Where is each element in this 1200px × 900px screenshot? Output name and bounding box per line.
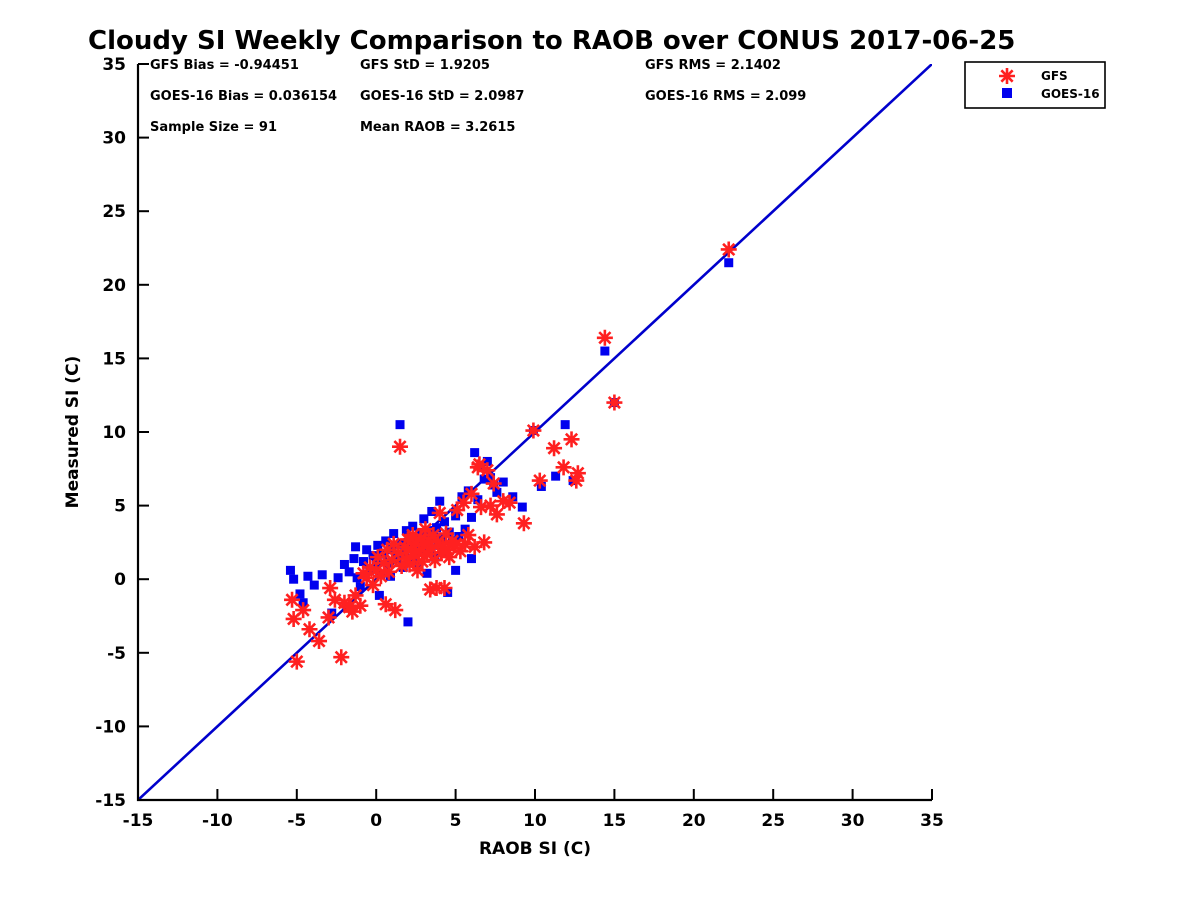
data-point-gfs: [436, 580, 452, 596]
data-point-goes16: [435, 497, 444, 506]
stat-gfs-rms: GFS RMS = 2.1402: [645, 58, 781, 73]
y-tick-label: 35: [102, 55, 126, 75]
data-point-gfs: [378, 596, 394, 612]
stat-goes16-std: GOES-16 StD = 2.0987: [360, 89, 524, 104]
y-axis-title: Measured SI (C): [63, 356, 83, 509]
data-point-goes16: [561, 420, 570, 429]
data-point-gfs: [606, 395, 622, 411]
x-tick-label: 15: [603, 811, 627, 831]
data-point-gfs: [556, 459, 572, 475]
data-point-goes16: [351, 542, 360, 551]
y-tick-label: 10: [102, 423, 126, 443]
y-tick-label: 5: [114, 497, 126, 517]
data-point-gfs: [352, 598, 368, 614]
stat-mean-raob: Mean RAOB = 3.2615: [360, 120, 515, 135]
stat-goes16-rms: GOES-16 RMS = 2.099: [645, 89, 806, 104]
data-point-goes16: [724, 258, 733, 267]
data-point-goes16: [600, 347, 609, 356]
stat-gfs-bias: GFS Bias = -0.94451: [150, 58, 299, 73]
legend-marker-gfs: [999, 68, 1015, 84]
stat-sample-size: Sample Size = 91: [150, 120, 277, 135]
series-goes16-points: [286, 258, 733, 626]
data-point-gfs: [476, 534, 492, 550]
data-point-goes16: [467, 554, 476, 563]
x-tick-label: -15: [123, 811, 154, 831]
data-point-goes16: [334, 573, 343, 582]
data-point-goes16: [451, 566, 460, 575]
scatter-plot-svg: Cloudy SI Weekly Comparison to RAOB over…: [0, 0, 1200, 900]
data-point-gfs: [502, 495, 518, 511]
data-point-goes16: [375, 591, 384, 600]
data-point-goes16: [396, 420, 405, 429]
data-point-goes16: [349, 554, 358, 563]
data-point-goes16: [470, 448, 479, 457]
data-point-goes16: [403, 617, 412, 626]
data-point-gfs: [532, 473, 548, 489]
stat-gfs-std: GFS StD = 1.9205: [360, 58, 490, 73]
chart-figure: Cloudy SI Weekly Comparison to RAOB over…: [0, 0, 1200, 900]
legend-marker-goes16: [1002, 88, 1012, 98]
data-point-gfs: [463, 486, 479, 502]
stat-goes16-bias: GOES-16 Bias = 0.036154: [150, 89, 337, 104]
data-point-gfs: [432, 505, 448, 521]
data-point-gfs: [392, 439, 408, 455]
x-tick-label: 30: [841, 811, 865, 831]
y-tick-label: -5: [107, 644, 126, 664]
data-point-gfs: [333, 649, 349, 665]
legend-label-gfs: GFS: [1041, 69, 1068, 83]
plot-data-layer: [138, 64, 932, 800]
data-point-goes16: [467, 513, 476, 522]
legend-label-goes16: GOES-16: [1041, 87, 1100, 101]
data-point-goes16: [289, 575, 298, 584]
data-point-gfs: [516, 515, 532, 531]
y-tick-label: 15: [102, 349, 126, 369]
data-point-gfs: [302, 621, 318, 637]
x-tick-label: 5: [450, 811, 462, 831]
y-tick-label: 30: [102, 129, 126, 149]
data-point-gfs: [570, 465, 586, 481]
data-point-gfs: [486, 476, 502, 492]
data-point-goes16: [518, 503, 527, 512]
x-tick-label: 10: [523, 811, 547, 831]
data-point-gfs: [295, 602, 311, 618]
data-point-goes16: [310, 581, 319, 590]
data-point-gfs: [311, 633, 327, 649]
x-tick-label: 20: [682, 811, 706, 831]
data-point-goes16: [286, 566, 295, 575]
x-tick-label: -5: [287, 811, 306, 831]
legend-box: [965, 62, 1105, 108]
x-tick-label: 25: [761, 811, 785, 831]
data-point-gfs: [597, 330, 613, 346]
data-point-goes16: [318, 570, 327, 579]
y-tick-label: -10: [95, 717, 126, 737]
x-tick-label: 35: [920, 811, 944, 831]
x-tick-label: 0: [370, 811, 382, 831]
data-point-goes16: [345, 567, 354, 576]
data-point-gfs: [546, 440, 562, 456]
legend: GFSGOES-16: [965, 62, 1105, 108]
data-point-gfs: [321, 609, 337, 625]
data-point-goes16: [303, 572, 312, 581]
data-point-gfs: [721, 241, 737, 257]
y-tick-label: -15: [95, 791, 126, 811]
x-axis-title: RAOB SI (C): [479, 839, 591, 859]
y-tick-label: 20: [102, 276, 126, 296]
y-tick-label: 0: [114, 570, 126, 590]
x-tick-label: -10: [202, 811, 233, 831]
data-point-goes16: [419, 514, 428, 523]
data-point-gfs: [289, 654, 305, 670]
data-point-gfs: [525, 423, 541, 439]
chart-title: Cloudy SI Weekly Comparison to RAOB over…: [88, 26, 1015, 56]
data-point-gfs: [564, 431, 580, 447]
y-tick-label: 25: [102, 202, 126, 222]
